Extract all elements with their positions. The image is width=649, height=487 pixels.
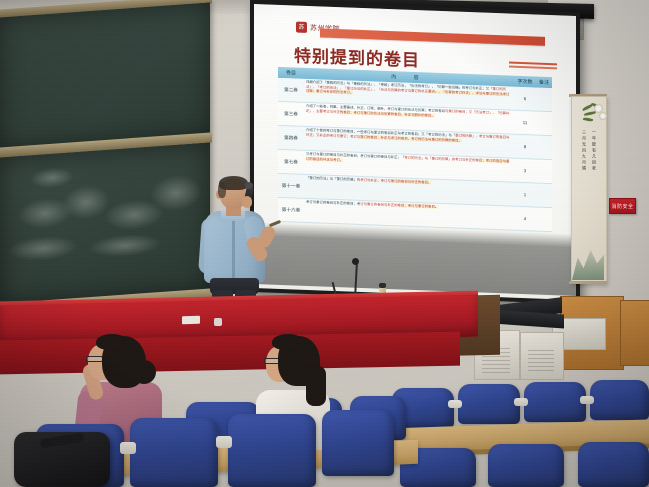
seal-glyph: 苏	[298, 24, 304, 30]
student-hair-top	[272, 334, 304, 350]
cell-count: 8	[514, 135, 536, 159]
cell-count: 1	[514, 183, 536, 207]
cell-volume: 第七卷	[278, 150, 304, 174]
cell-count: 6	[514, 87, 536, 111]
cell-note	[536, 112, 552, 136]
seat-armrest	[580, 396, 594, 404]
cell-count: 3	[514, 159, 536, 183]
glasses-icon	[86, 356, 103, 362]
scroll-calligraphy-line-1: 一年能有几回老	[590, 130, 596, 172]
cell-volume: 第四卷	[278, 126, 304, 150]
cell-note	[536, 88, 552, 112]
cell-volume: 第三卷	[278, 102, 304, 126]
cabinet-vent	[528, 350, 554, 374]
student-ponytail	[306, 366, 326, 406]
table-body: 第二卷详细介绍了「重叙的历法」与「重叙的历法」，「奉敕」考订历法，「历法的考订」…	[278, 78, 552, 232]
seat-armrest	[514, 398, 528, 406]
wooden-cabinet-side	[620, 300, 649, 366]
laser-pointer	[269, 220, 281, 227]
seat	[228, 414, 316, 487]
scroll-bottom-rod	[569, 281, 607, 284]
column-header-volume: 卷目	[278, 69, 304, 77]
seat	[578, 442, 649, 487]
student-hair-bun	[132, 360, 156, 384]
cell-note	[536, 184, 552, 208]
screen-shadow	[254, 222, 576, 296]
presentation-slide: 苏 苏州学院 特别提到的卷目 卷目 内 容 字次数 备注 第二卷详细介绍了「重叙…	[274, 15, 556, 252]
seal-icon: 苏	[296, 22, 307, 33]
seat	[458, 384, 520, 424]
seat-armrest	[448, 400, 462, 408]
sign-text: 消防安全	[611, 203, 633, 210]
blackboard-upper-panel	[0, 2, 210, 149]
student-hair-top	[96, 334, 128, 350]
column-header-note: 备注	[536, 79, 552, 87]
slide-table: 卷目 内 容 字次数 备注 第二卷详细介绍了「重叙的历法」与「重叙的历法」，「奉…	[278, 67, 552, 232]
presenter-hand	[242, 196, 252, 208]
slide-title: 特别提到的卷目	[294, 41, 420, 71]
classroom-photo: 苏 苏州学院 特别提到的卷目 卷目 内 容 字次数 备注 第二卷详细介绍了「重叙…	[0, 0, 649, 487]
paper-stack	[182, 316, 200, 324]
seat	[322, 410, 394, 476]
flower-motif	[599, 112, 607, 120]
fire-safety-sign: 消防安全	[609, 198, 636, 214]
microphone-head-icon	[352, 258, 359, 265]
seat	[488, 444, 564, 487]
cell-note	[536, 208, 552, 232]
cup	[214, 318, 222, 326]
slide-accent-line-2	[509, 66, 557, 70]
cell-note	[536, 136, 552, 160]
cell-count: 11	[514, 111, 536, 135]
seat	[590, 380, 649, 420]
seat-armrest	[216, 436, 232, 448]
blackboard-lower-panel	[0, 142, 210, 305]
cell-note	[536, 160, 552, 184]
cell-volume: 第二卷	[278, 78, 304, 102]
slide-accent-line-1	[509, 62, 557, 66]
seat	[524, 382, 586, 422]
column-header-count: 字次数	[514, 78, 536, 86]
seat-armrest	[120, 442, 136, 454]
cell-count: 4	[514, 207, 536, 231]
scroll-calligraphy-line-2: 三月无风九月晴	[580, 130, 586, 172]
seat	[130, 418, 218, 487]
